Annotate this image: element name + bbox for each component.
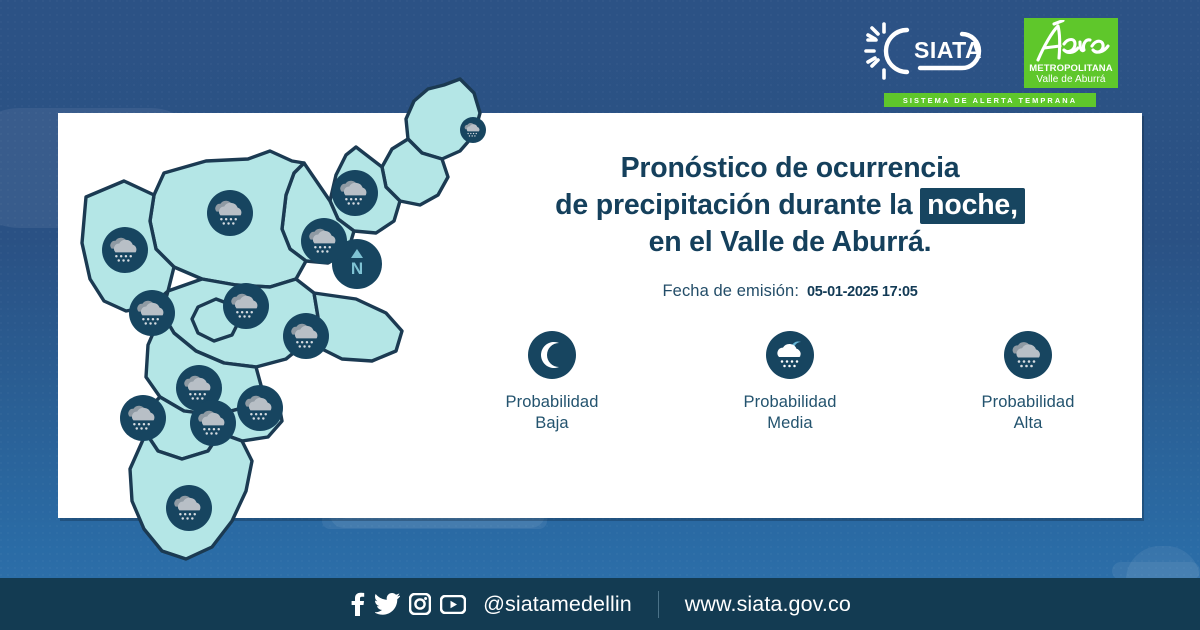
legend-label-baja: Probabilidad Baja	[506, 392, 599, 433]
map-marker-rain-1[interactable]	[332, 170, 378, 216]
legend-item-media[interactable]: Probabilidad Media	[715, 331, 865, 433]
map-marker-rain-9[interactable]	[120, 395, 166, 441]
siata-tagline-text: SISTEMA DE ALERTA TEMPRANA	[903, 96, 1077, 105]
legend-baja-line2: Baja	[535, 414, 568, 432]
social-handle[interactable]: @siatamedellin	[483, 592, 632, 617]
area-metropolitana-logo: METROPOLITANA Valle de Aburrá	[1024, 18, 1118, 88]
map-marker-rain-7[interactable]	[283, 313, 329, 359]
youtube-icon[interactable]	[440, 595, 466, 614]
map-marker-rain-5[interactable]	[129, 290, 175, 336]
legend-alta-line1: Probabilidad	[982, 393, 1075, 411]
legend-item-alta[interactable]: Probabilidad Alta	[953, 331, 1103, 433]
map-marker-rain-4[interactable]	[102, 227, 148, 273]
footer-divider	[658, 591, 659, 618]
website-url[interactable]: www.siata.gov.co	[685, 592, 851, 617]
area-logo-line2: Valle de Aburrá	[1036, 74, 1105, 86]
map-marker-rain-6[interactable]	[223, 283, 269, 329]
area-script-wordmark	[1030, 20, 1112, 64]
map-marker-rain-10[interactable]	[190, 400, 236, 446]
moon-icon	[528, 331, 576, 379]
title-line-3: en el Valle de Aburrá.	[470, 224, 1110, 261]
cloud-heavy-rain-icon	[1004, 331, 1052, 379]
title-line-1: Pronóstico de ocurrencia	[470, 150, 1110, 187]
siata-logo: SIATA	[862, 18, 1014, 84]
emission-date-label: Fecha de emisión:	[662, 282, 799, 301]
map-marker-rain-0[interactable]	[460, 117, 486, 143]
title-line-2-text: de precipitación durante la	[555, 189, 912, 221]
svg-text:N: N	[351, 259, 363, 278]
valle-de-aburra-map[interactable]: N	[56, 55, 486, 575]
facebook-icon[interactable]	[349, 592, 366, 616]
social-links	[349, 592, 466, 616]
probability-legend: Probabilidad Baja	[470, 331, 1110, 433]
legend-media-line1: Probabilidad	[744, 393, 837, 411]
title-highlight-noche: noche,	[920, 188, 1025, 224]
forecast-content: Pronóstico de ocurrencia de precipitació…	[470, 150, 1110, 433]
svg-text:SIATA: SIATA	[914, 37, 982, 63]
twitter-icon[interactable]	[375, 592, 400, 616]
cloud-rain-moon-icon	[766, 331, 814, 379]
footer-bar: @siatamedellin www.siata.gov.co	[0, 578, 1200, 630]
legend-media-line2: Media	[767, 414, 812, 432]
logo-group: SIATA METROPOLITANA Valle de Aburrá	[862, 18, 1118, 107]
legend-item-baja[interactable]: Probabilidad Baja	[477, 331, 627, 433]
instagram-icon[interactable]	[409, 593, 431, 615]
title-line-2: de precipitación durante la noche,	[470, 187, 1110, 224]
legend-alta-line2: Alta	[1014, 414, 1043, 432]
map-marker-rain-3[interactable]	[301, 218, 347, 264]
legend-label-media: Probabilidad Media	[744, 392, 837, 433]
siata-tagline-bar: SISTEMA DE ALERTA TEMPRANA	[884, 93, 1096, 107]
area-logo-line1: METROPOLITANA	[1029, 64, 1112, 74]
map-marker-rain-11[interactable]	[237, 385, 283, 431]
map-marker-rain-2[interactable]	[207, 190, 253, 236]
legend-label-alta: Probabilidad Alta	[982, 392, 1075, 433]
emission-date-value: 05-01-2025 17:05	[807, 284, 918, 300]
page-title: Pronóstico de ocurrencia de precipitació…	[470, 150, 1110, 261]
legend-baja-line1: Probabilidad	[506, 393, 599, 411]
emission-date: Fecha de emisión: 05-01-2025 17:05	[470, 282, 1110, 301]
map-marker-rain-12[interactable]	[166, 485, 212, 531]
